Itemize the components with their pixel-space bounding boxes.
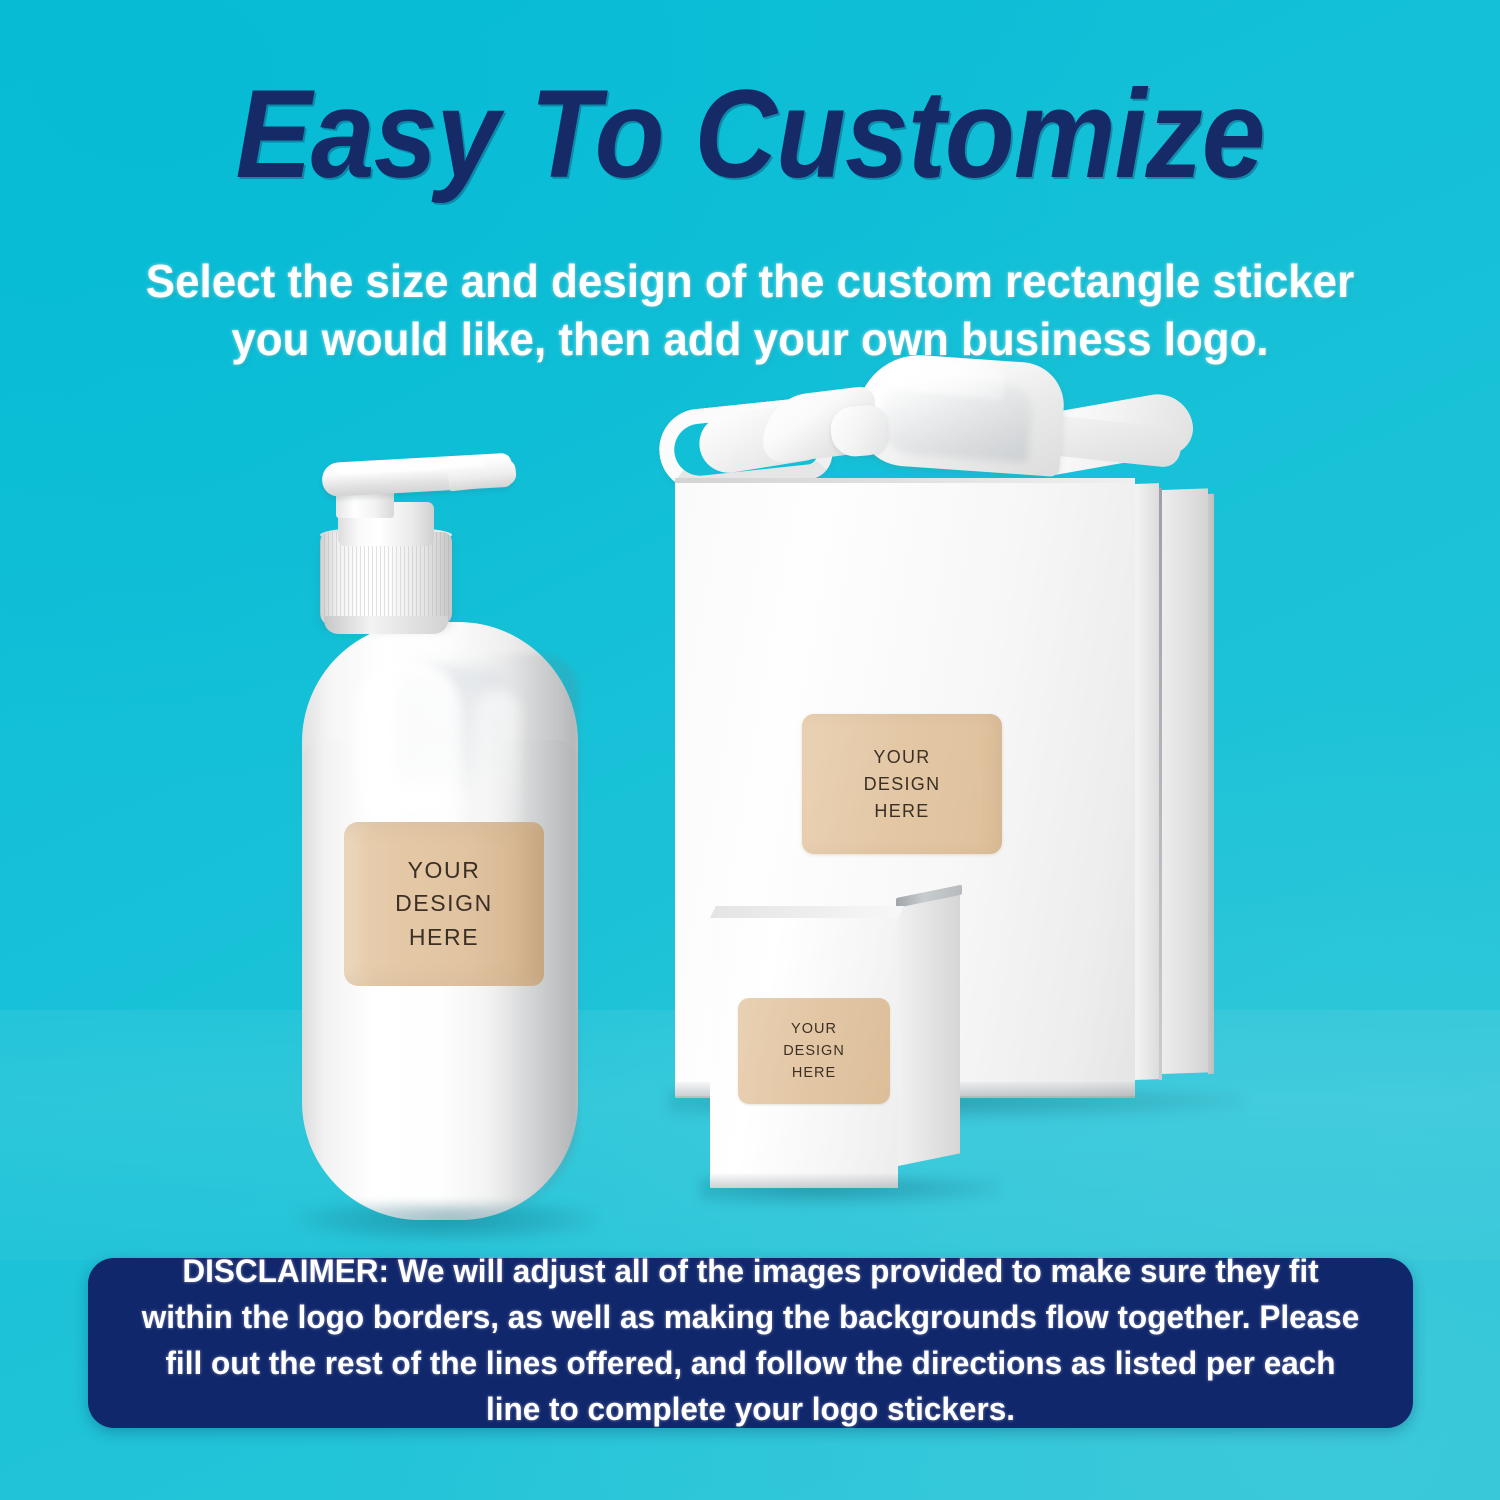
smallbox-bottom-shading xyxy=(710,1174,898,1188)
pump-collar-ribbed xyxy=(320,532,452,626)
sticker-line-1: YOUR xyxy=(873,744,930,771)
sticker-line-3: HERE xyxy=(874,798,929,825)
disclaimer-text: DISCLAIMER: We will adjust all of the im… xyxy=(141,1248,1360,1433)
pump-bottle-mockup: YOUR DESIGN HERE xyxy=(300,440,620,1230)
sticker-line-2: DESIGN xyxy=(395,887,493,921)
giftbox-side-lid-panel xyxy=(1135,483,1159,1080)
bow-knot xyxy=(829,404,889,459)
smallbox-top-edge xyxy=(710,906,904,918)
sticker-line-2: DESIGN xyxy=(864,771,941,798)
sticker-line-1: YOUR xyxy=(408,854,481,888)
smallbox-sticker-label: YOUR DESIGN HERE xyxy=(738,998,890,1104)
page-title: Easy To Customize xyxy=(64,72,1437,197)
sticker-line-2: DESIGN xyxy=(783,1040,845,1062)
sticker-line-3: HERE xyxy=(409,921,479,955)
sticker-line-3: HERE xyxy=(792,1062,836,1084)
disclaimer-label: DISCLAIMER: xyxy=(182,1253,389,1289)
small-box-mockup: YOUR DESIGN HERE xyxy=(710,898,980,1188)
page-subtitle: Select the size and design of the custom… xyxy=(108,253,1392,369)
pump-collar-base xyxy=(324,616,448,634)
sticker-line-1: YOUR xyxy=(791,1018,837,1040)
smallbox-side-panel xyxy=(898,887,960,1166)
giftbox-front-top-edge xyxy=(675,478,1135,483)
giftbox-lid-seam xyxy=(1159,488,1162,1080)
giftbox-far-edge xyxy=(1208,494,1214,1074)
giftbox-side-panel xyxy=(1162,488,1208,1074)
disclaimer-panel: DISCLAIMER: We will adjust all of the im… xyxy=(88,1258,1413,1428)
bottle-sticker-label: YOUR DESIGN HERE xyxy=(344,822,544,986)
bottle-ground-shadow xyxy=(296,1204,596,1242)
giftbox-sticker-label: YOUR DESIGN HERE xyxy=(802,714,1002,854)
